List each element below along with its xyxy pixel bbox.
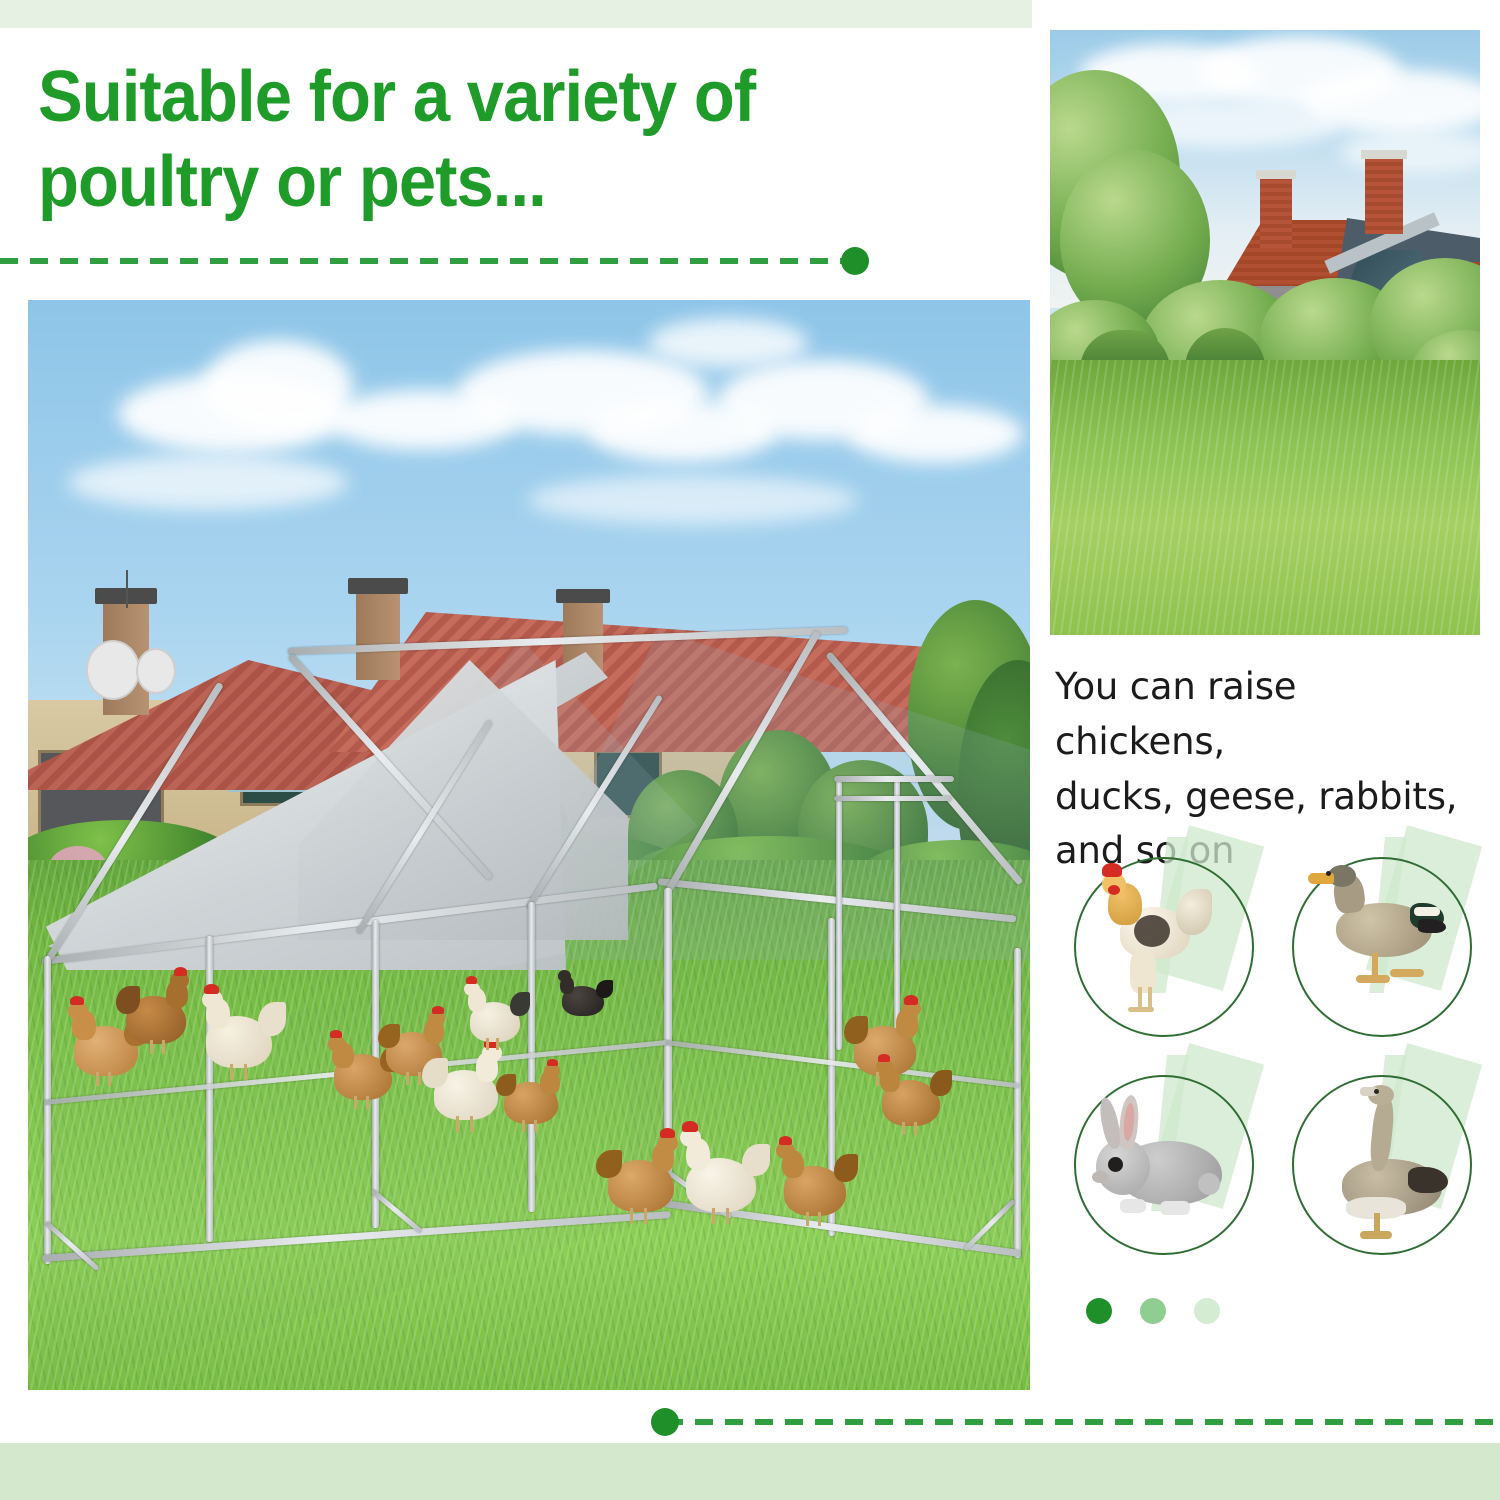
chicken: [600, 1132, 686, 1224]
frame-bar: [288, 627, 848, 655]
animal-circle-chicken[interactable]: [1068, 845, 1258, 1045]
animal-circle-duck[interactable]: [1286, 845, 1476, 1045]
chicken-illustration: [1068, 845, 1258, 1045]
dashed-line: [665, 1419, 1500, 1425]
hero-coop-photo: [28, 300, 1030, 1390]
dashed-divider-top: [0, 258, 855, 264]
top-green-band: [0, 0, 1032, 28]
chicken: [464, 980, 528, 1052]
frame-post: [1014, 948, 1021, 1258]
product-feature-slide: Suitable for a variety of poultry or pet…: [0, 0, 1500, 1500]
cloud: [528, 475, 858, 525]
dashed-divider-bottom: [665, 1419, 1500, 1425]
chicken: [498, 1060, 568, 1134]
garden-house-photo: [1050, 30, 1480, 635]
carousel-dot[interactable]: [1140, 1298, 1166, 1324]
chicken: [558, 970, 612, 1022]
rabbit-illustration: [1068, 1063, 1258, 1263]
animal-circle-goose[interactable]: [1286, 1063, 1476, 1263]
page-title: Suitable for a variety of poultry or pet…: [38, 55, 931, 225]
chicken: [198, 990, 284, 1080]
frame-post: [44, 956, 51, 1264]
carousel-dot-active[interactable]: [1086, 1298, 1112, 1324]
animal-circle-rabbit[interactable]: [1068, 1063, 1258, 1263]
door-frame-header[interactable]: [834, 796, 952, 801]
chimney: [1365, 158, 1403, 234]
divider-knob-icon: [651, 1408, 679, 1436]
divider-knob-icon: [841, 247, 869, 275]
door-frame-post[interactable]: [836, 780, 842, 1050]
cloud: [648, 318, 808, 368]
duck-illustration: [1286, 845, 1476, 1045]
chicken: [120, 972, 198, 1056]
bottom-green-band: [0, 1443, 1500, 1500]
carousel-dots[interactable]: [1086, 1298, 1220, 1324]
animal-icon-grid: [1068, 845, 1480, 1265]
chicken: [678, 1128, 770, 1224]
door-frame-header[interactable]: [834, 776, 954, 782]
chicken: [876, 1056, 952, 1136]
carousel-dot[interactable]: [1194, 1298, 1220, 1324]
goose-illustration: [1286, 1063, 1476, 1263]
cloud: [68, 455, 348, 510]
cloud: [848, 405, 1023, 463]
lawn: [1050, 360, 1480, 635]
chimney: [1260, 178, 1292, 248]
chicken: [776, 1140, 858, 1226]
dashed-line: [0, 258, 855, 264]
